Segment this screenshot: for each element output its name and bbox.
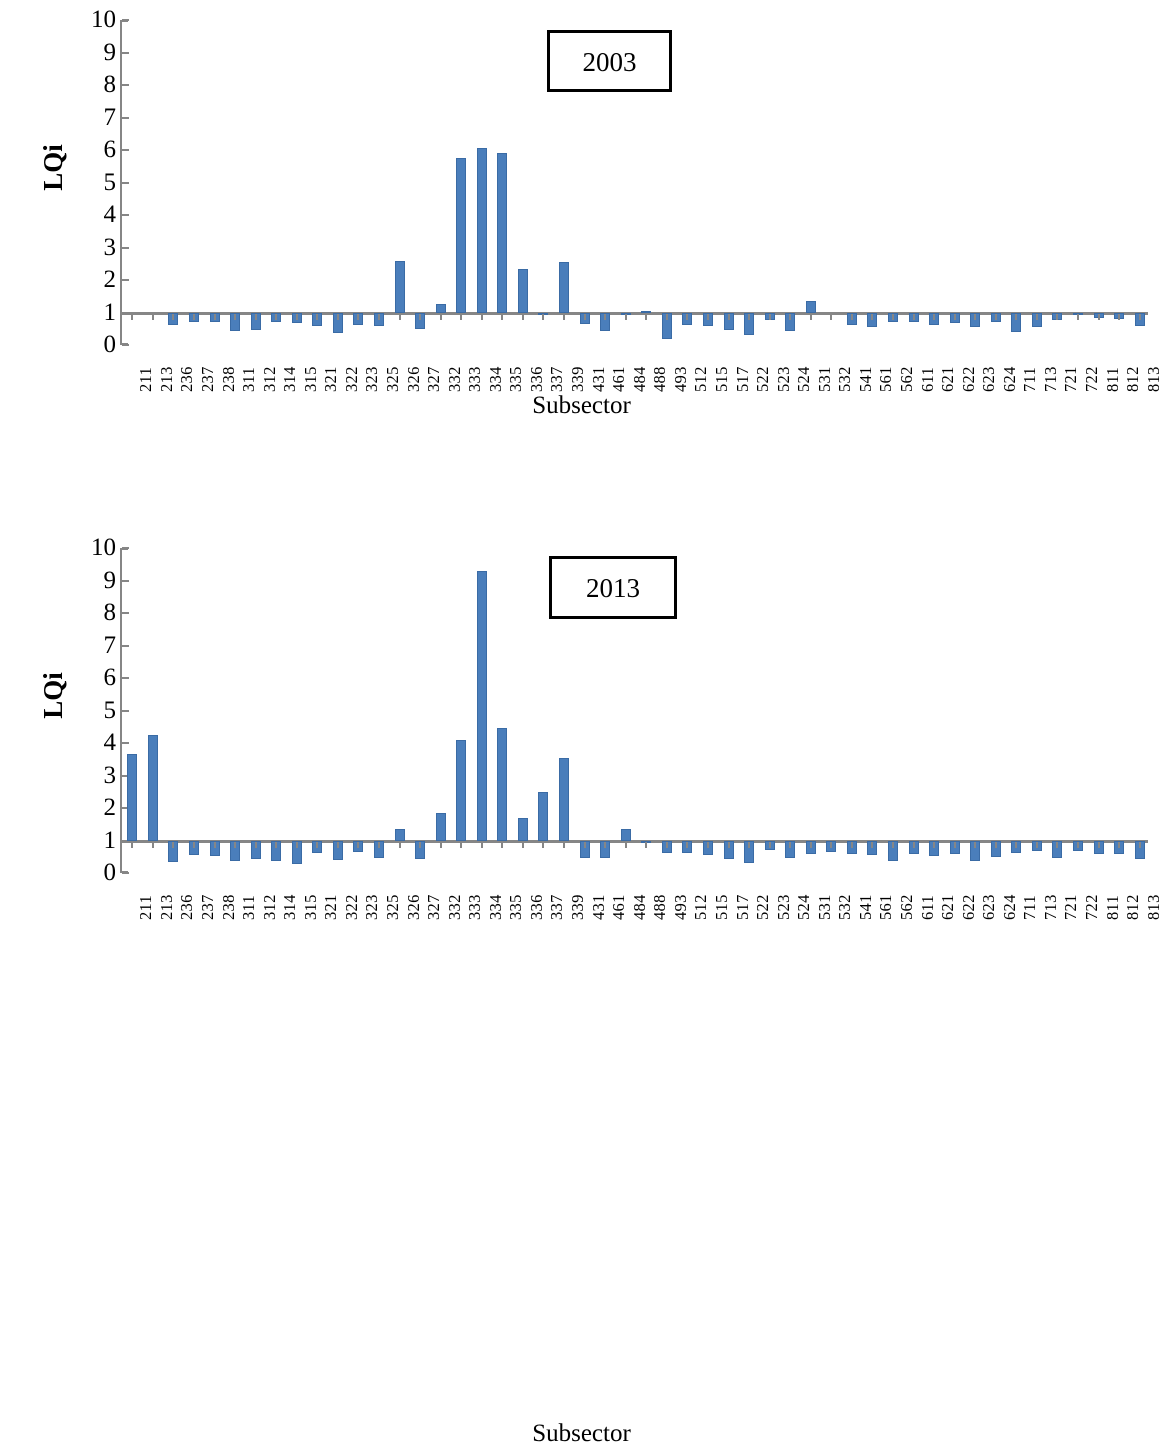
bar-332 [436, 304, 446, 312]
y-tick-label-3: 3 [76, 763, 116, 788]
x-tick-339 [563, 842, 565, 848]
x-tick-624 [995, 842, 997, 848]
x-axis-label-337: 337 [549, 366, 566, 392]
x-axis-label-327: 327 [426, 894, 443, 920]
x-tick-327 [419, 314, 421, 320]
bar-335 [497, 153, 507, 312]
y-tick-label-2: 2 [76, 795, 116, 820]
x-axis-label-461: 461 [611, 366, 628, 392]
x-tick-722 [1077, 842, 1079, 848]
y-tick-label-2: 2 [76, 267, 116, 292]
bar-326 [395, 261, 405, 313]
x-tick-334 [481, 842, 483, 848]
x-axis-label-321: 321 [323, 894, 340, 920]
x-axis-label-237: 237 [200, 366, 217, 392]
y-tick-label-10: 10 [76, 7, 116, 32]
x-axis-label-323: 323 [364, 366, 381, 392]
y-tick-label-9: 9 [76, 40, 116, 65]
x-axis-label-813: 813 [1146, 894, 1163, 920]
x-axis-label-312: 312 [262, 894, 279, 920]
x-axis-label-312: 312 [262, 366, 279, 392]
x-tick-488 [645, 842, 647, 848]
x-axis-label-522: 522 [755, 366, 772, 392]
x-axis-label-334: 334 [488, 894, 505, 920]
x-tick-236 [172, 842, 174, 848]
x-tick-211 [131, 314, 133, 320]
x-tick-238 [214, 842, 216, 848]
x-tick-321 [316, 314, 318, 320]
x-axis-label-493: 493 [673, 894, 690, 920]
x-tick-315 [296, 314, 298, 320]
x-tick-532 [830, 314, 832, 320]
x-tick-314 [275, 314, 277, 320]
x-axis-label-517: 517 [735, 366, 752, 392]
x-tick-523 [769, 314, 771, 320]
x-axis-label-314: 314 [282, 366, 299, 392]
y-tick-label-10: 10 [76, 535, 116, 560]
x-tick-711 [1015, 314, 1017, 320]
x-axis-label-532: 532 [837, 366, 854, 392]
y-tick-label-4: 4 [76, 202, 116, 227]
x-tick-493 [666, 842, 668, 848]
x-axis-label-561: 561 [878, 894, 895, 920]
x-tick-325 [378, 842, 380, 848]
x-tick-541 [851, 842, 853, 848]
bar-213 [148, 735, 158, 841]
x-tick-237 [193, 842, 195, 848]
y-axis-title-2003: LQi [38, 144, 69, 191]
x-tick-711 [1015, 842, 1017, 848]
x-axis-label-337: 337 [549, 894, 566, 920]
x-axis-label-315: 315 [303, 366, 320, 392]
x-axis-label-326: 326 [406, 894, 423, 920]
x-tick-517 [728, 842, 730, 848]
x-axis-label-532: 532 [837, 894, 854, 920]
x-tick-515 [707, 314, 709, 320]
x-axis-label-524: 524 [796, 366, 813, 392]
x-axis-label-334: 334 [488, 366, 505, 392]
x-axis-label-322: 322 [344, 366, 361, 392]
x-axis-label-327: 327 [426, 366, 443, 392]
x-tick-333 [460, 314, 462, 320]
x-axis-label-541: 541 [858, 894, 875, 920]
bar-334 [477, 148, 487, 312]
x-axis-label-611: 611 [920, 895, 937, 920]
x-axis-label-311: 311 [241, 895, 258, 920]
bar-336 [518, 269, 528, 313]
x-axis-label-484: 484 [632, 894, 649, 920]
bar-335 [497, 728, 507, 840]
x-tick-531 [810, 842, 812, 848]
x-tick-311 [234, 842, 236, 848]
x-tick-213 [152, 842, 154, 848]
x-axis-label-238: 238 [221, 894, 238, 920]
x-tick-722 [1077, 314, 1079, 320]
x-tick-484 [625, 842, 627, 848]
x-tick-327 [419, 842, 421, 848]
x-axis-label-515: 515 [714, 366, 731, 392]
x-axis-label-523: 523 [776, 894, 793, 920]
x-axis-label-721: 721 [1063, 894, 1080, 920]
x-axis-label-562: 562 [899, 366, 916, 392]
x-tick-541 [851, 314, 853, 320]
x-axis-label-493: 493 [673, 366, 690, 392]
x-axis-label-622: 622 [961, 366, 978, 392]
y-tick-label-8: 8 [76, 600, 116, 625]
y-tick-label-0: 0 [76, 332, 116, 357]
chart-panel-2013: LQi 012345678910 21121323623723831131231… [0, 528, 1163, 929]
x-tick-522 [748, 314, 750, 320]
x-axis-label-339: 339 [570, 366, 587, 392]
y-tick-label-4: 4 [76, 730, 116, 755]
x-tick-522 [748, 842, 750, 848]
x-tick-713 [1036, 842, 1038, 848]
x-tick-336 [522, 314, 524, 320]
y-tick-label-1: 1 [76, 300, 116, 325]
x-tick-322 [337, 842, 339, 848]
x-tick-562 [892, 314, 894, 320]
x-axis-label-812: 812 [1125, 366, 1142, 392]
x-axis-label-713: 713 [1043, 366, 1060, 392]
x-axis-label-531: 531 [817, 894, 834, 920]
y-tick-label-8: 8 [76, 72, 116, 97]
y-tick-label-6: 6 [76, 665, 116, 690]
x-axis-label-522: 522 [755, 894, 772, 920]
x-axis-label-722: 722 [1084, 894, 1101, 920]
x-axis-label-332: 332 [447, 894, 464, 920]
x-tick-561 [871, 314, 873, 320]
x-tick-461 [604, 314, 606, 320]
bar-334 [477, 571, 487, 841]
y-tick-label-0: 0 [76, 860, 116, 885]
x-tick-325 [378, 314, 380, 320]
x-axis-label-512: 512 [693, 366, 710, 392]
x-tick-622 [954, 314, 956, 320]
x-axis-label-621: 621 [940, 894, 957, 920]
x-tick-524 [789, 314, 791, 320]
x-axis-label-512: 512 [693, 894, 710, 920]
y-axis-title-2013: LQi [38, 672, 69, 719]
x-tick-721 [1056, 314, 1058, 320]
x-axis-label-623: 623 [981, 366, 998, 392]
x-axis-label-624: 624 [1002, 894, 1019, 920]
x-tick-493 [666, 314, 668, 320]
x-axis-label-461: 461 [611, 894, 628, 920]
x-tick-314 [275, 842, 277, 848]
x-tick-721 [1056, 842, 1058, 848]
x-tick-337 [542, 842, 544, 848]
x-axis-title-2013: Subsector [0, 1420, 1163, 1448]
x-tick-811 [1098, 842, 1100, 848]
x-axis-label-335: 335 [508, 894, 525, 920]
x-axis-label-811: 811 [1105, 367, 1122, 392]
x-tick-431 [584, 842, 586, 848]
x-tick-623 [974, 842, 976, 848]
x-axis-label-322: 322 [344, 894, 361, 920]
x-axis-label-325: 325 [385, 894, 402, 920]
x-tick-623 [974, 314, 976, 320]
x-tick-339 [563, 314, 565, 320]
x-tick-713 [1036, 314, 1038, 320]
y-tick-label-5: 5 [76, 170, 116, 195]
x-tick-238 [214, 314, 216, 320]
x-axis-label-515: 515 [714, 894, 731, 920]
x-tick-336 [522, 842, 524, 848]
x-tick-311 [234, 314, 236, 320]
bar-336 [518, 818, 528, 841]
x-axis-label-611: 611 [920, 367, 937, 392]
x-axis-label-213: 213 [159, 894, 176, 920]
x-tick-213 [152, 314, 154, 320]
x-axis-label-339: 339 [570, 894, 587, 920]
x-axis-label-237: 237 [200, 894, 217, 920]
x-tick-517 [728, 314, 730, 320]
x-axis-label-711: 711 [1022, 367, 1039, 392]
x-axis-label-517: 517 [735, 894, 752, 920]
x-tick-337 [542, 314, 544, 320]
x-tick-484 [625, 314, 627, 320]
x-tick-621 [933, 842, 935, 848]
x-tick-326 [399, 314, 401, 320]
x-axis-label-713: 713 [1043, 894, 1060, 920]
x-axis-label-623: 623 [981, 894, 998, 920]
bar-332 [436, 813, 446, 841]
x-axis-label-336: 336 [529, 366, 546, 392]
x-tick-236 [172, 314, 174, 320]
bar-484 [621, 829, 631, 840]
x-tick-237 [193, 314, 195, 320]
x-axis-label-531: 531 [817, 366, 834, 392]
x-tick-812 [1118, 842, 1120, 848]
x-tick-333 [460, 842, 462, 848]
x-axis-label-811: 811 [1105, 895, 1122, 920]
x-tick-332 [440, 314, 442, 320]
x-axis-label-431: 431 [591, 366, 608, 392]
year-label-2003: 2003 [547, 30, 672, 92]
x-axis-label-323: 323 [364, 894, 381, 920]
x-axis-label-213: 213 [159, 366, 176, 392]
x-axis-label-333: 333 [467, 894, 484, 920]
x-axis-label-488: 488 [652, 366, 669, 392]
x-axis-label-321: 321 [323, 366, 340, 392]
x-tick-561 [871, 842, 873, 848]
chart-panel-2003: LQi 012345678910 21121323623723831131231… [0, 0, 1163, 430]
bar-326 [395, 829, 405, 840]
x-axis-label-561: 561 [878, 366, 895, 392]
x-axis-label-236: 236 [179, 366, 196, 392]
x-axis-label-541: 541 [858, 366, 875, 392]
x-axis-label-325: 325 [385, 366, 402, 392]
x-tick-321 [316, 842, 318, 848]
x-axis-label-711: 711 [1022, 895, 1039, 920]
y-tick-label-6: 6 [76, 137, 116, 162]
x-tick-515 [707, 842, 709, 848]
x-axis-label-524: 524 [796, 894, 813, 920]
y-tick-label-7: 7 [76, 105, 116, 130]
x-tick-624 [995, 314, 997, 320]
bar-339 [559, 262, 569, 312]
x-axis-label-488: 488 [652, 894, 669, 920]
x-tick-512 [686, 314, 688, 320]
x-axis-label-211: 211 [138, 367, 155, 392]
year-label-2013: 2013 [549, 556, 677, 619]
x-tick-531 [810, 314, 812, 320]
x-tick-811 [1098, 314, 1100, 320]
x-tick-323 [357, 314, 359, 320]
x-tick-431 [584, 314, 586, 320]
x-tick-512 [686, 842, 688, 848]
bar-339 [559, 758, 569, 841]
bar-337 [538, 792, 548, 841]
x-tick-315 [296, 842, 298, 848]
x-tick-335 [501, 314, 503, 320]
x-tick-524 [789, 842, 791, 848]
x-axis-label-813: 813 [1146, 366, 1163, 392]
x-axis-label-812: 812 [1125, 894, 1142, 920]
x-tick-562 [892, 842, 894, 848]
y-tick-label-3: 3 [76, 235, 116, 260]
x-tick-813 [1139, 314, 1141, 320]
x-axis-label-236: 236 [179, 894, 196, 920]
y-tick-label-9: 9 [76, 568, 116, 593]
x-axis-label-211: 211 [138, 895, 155, 920]
x-axis-label-326: 326 [406, 366, 423, 392]
x-tick-523 [769, 842, 771, 848]
x-tick-323 [357, 842, 359, 848]
x-tick-812 [1118, 314, 1120, 320]
x-tick-813 [1139, 842, 1141, 848]
x-axis-label-315: 315 [303, 894, 320, 920]
x-axis-label-333: 333 [467, 366, 484, 392]
x-axis-label-335: 335 [508, 366, 525, 392]
bar-211 [127, 754, 137, 840]
x-axis-label-621: 621 [940, 366, 957, 392]
x-tick-611 [913, 842, 915, 848]
x-tick-611 [913, 314, 915, 320]
x-axis-label-238: 238 [221, 366, 238, 392]
x-tick-334 [481, 314, 483, 320]
x-tick-621 [933, 314, 935, 320]
y-tick-label-5: 5 [76, 698, 116, 723]
x-axis-label-562: 562 [899, 894, 916, 920]
bar-333 [456, 740, 466, 841]
y-tick-label-7: 7 [76, 633, 116, 658]
x-tick-335 [501, 842, 503, 848]
x-tick-332 [440, 842, 442, 848]
x-tick-211 [131, 842, 133, 848]
x-axis-label-721: 721 [1063, 366, 1080, 392]
bar-333 [456, 158, 466, 312]
x-tick-322 [337, 314, 339, 320]
x-tick-622 [954, 842, 956, 848]
x-tick-532 [830, 842, 832, 848]
x-axis-label-624: 624 [1002, 366, 1019, 392]
x-axis-title-2003: Subsector [0, 392, 1163, 420]
x-tick-312 [255, 314, 257, 320]
x-axis-label-523: 523 [776, 366, 793, 392]
x-axis-label-336: 336 [529, 894, 546, 920]
x-axis-label-484: 484 [632, 366, 649, 392]
x-tick-461 [604, 842, 606, 848]
x-axis-label-311: 311 [241, 367, 258, 392]
x-tick-488 [645, 314, 647, 320]
x-axis-label-314: 314 [282, 894, 299, 920]
x-tick-312 [255, 842, 257, 848]
x-tick-326 [399, 842, 401, 848]
x-axis-label-622: 622 [961, 894, 978, 920]
y-tick-label-1: 1 [76, 828, 116, 853]
x-axis-label-332: 332 [447, 366, 464, 392]
x-axis-label-431: 431 [591, 894, 608, 920]
x-axis-label-722: 722 [1084, 366, 1101, 392]
bar-531 [806, 301, 816, 312]
